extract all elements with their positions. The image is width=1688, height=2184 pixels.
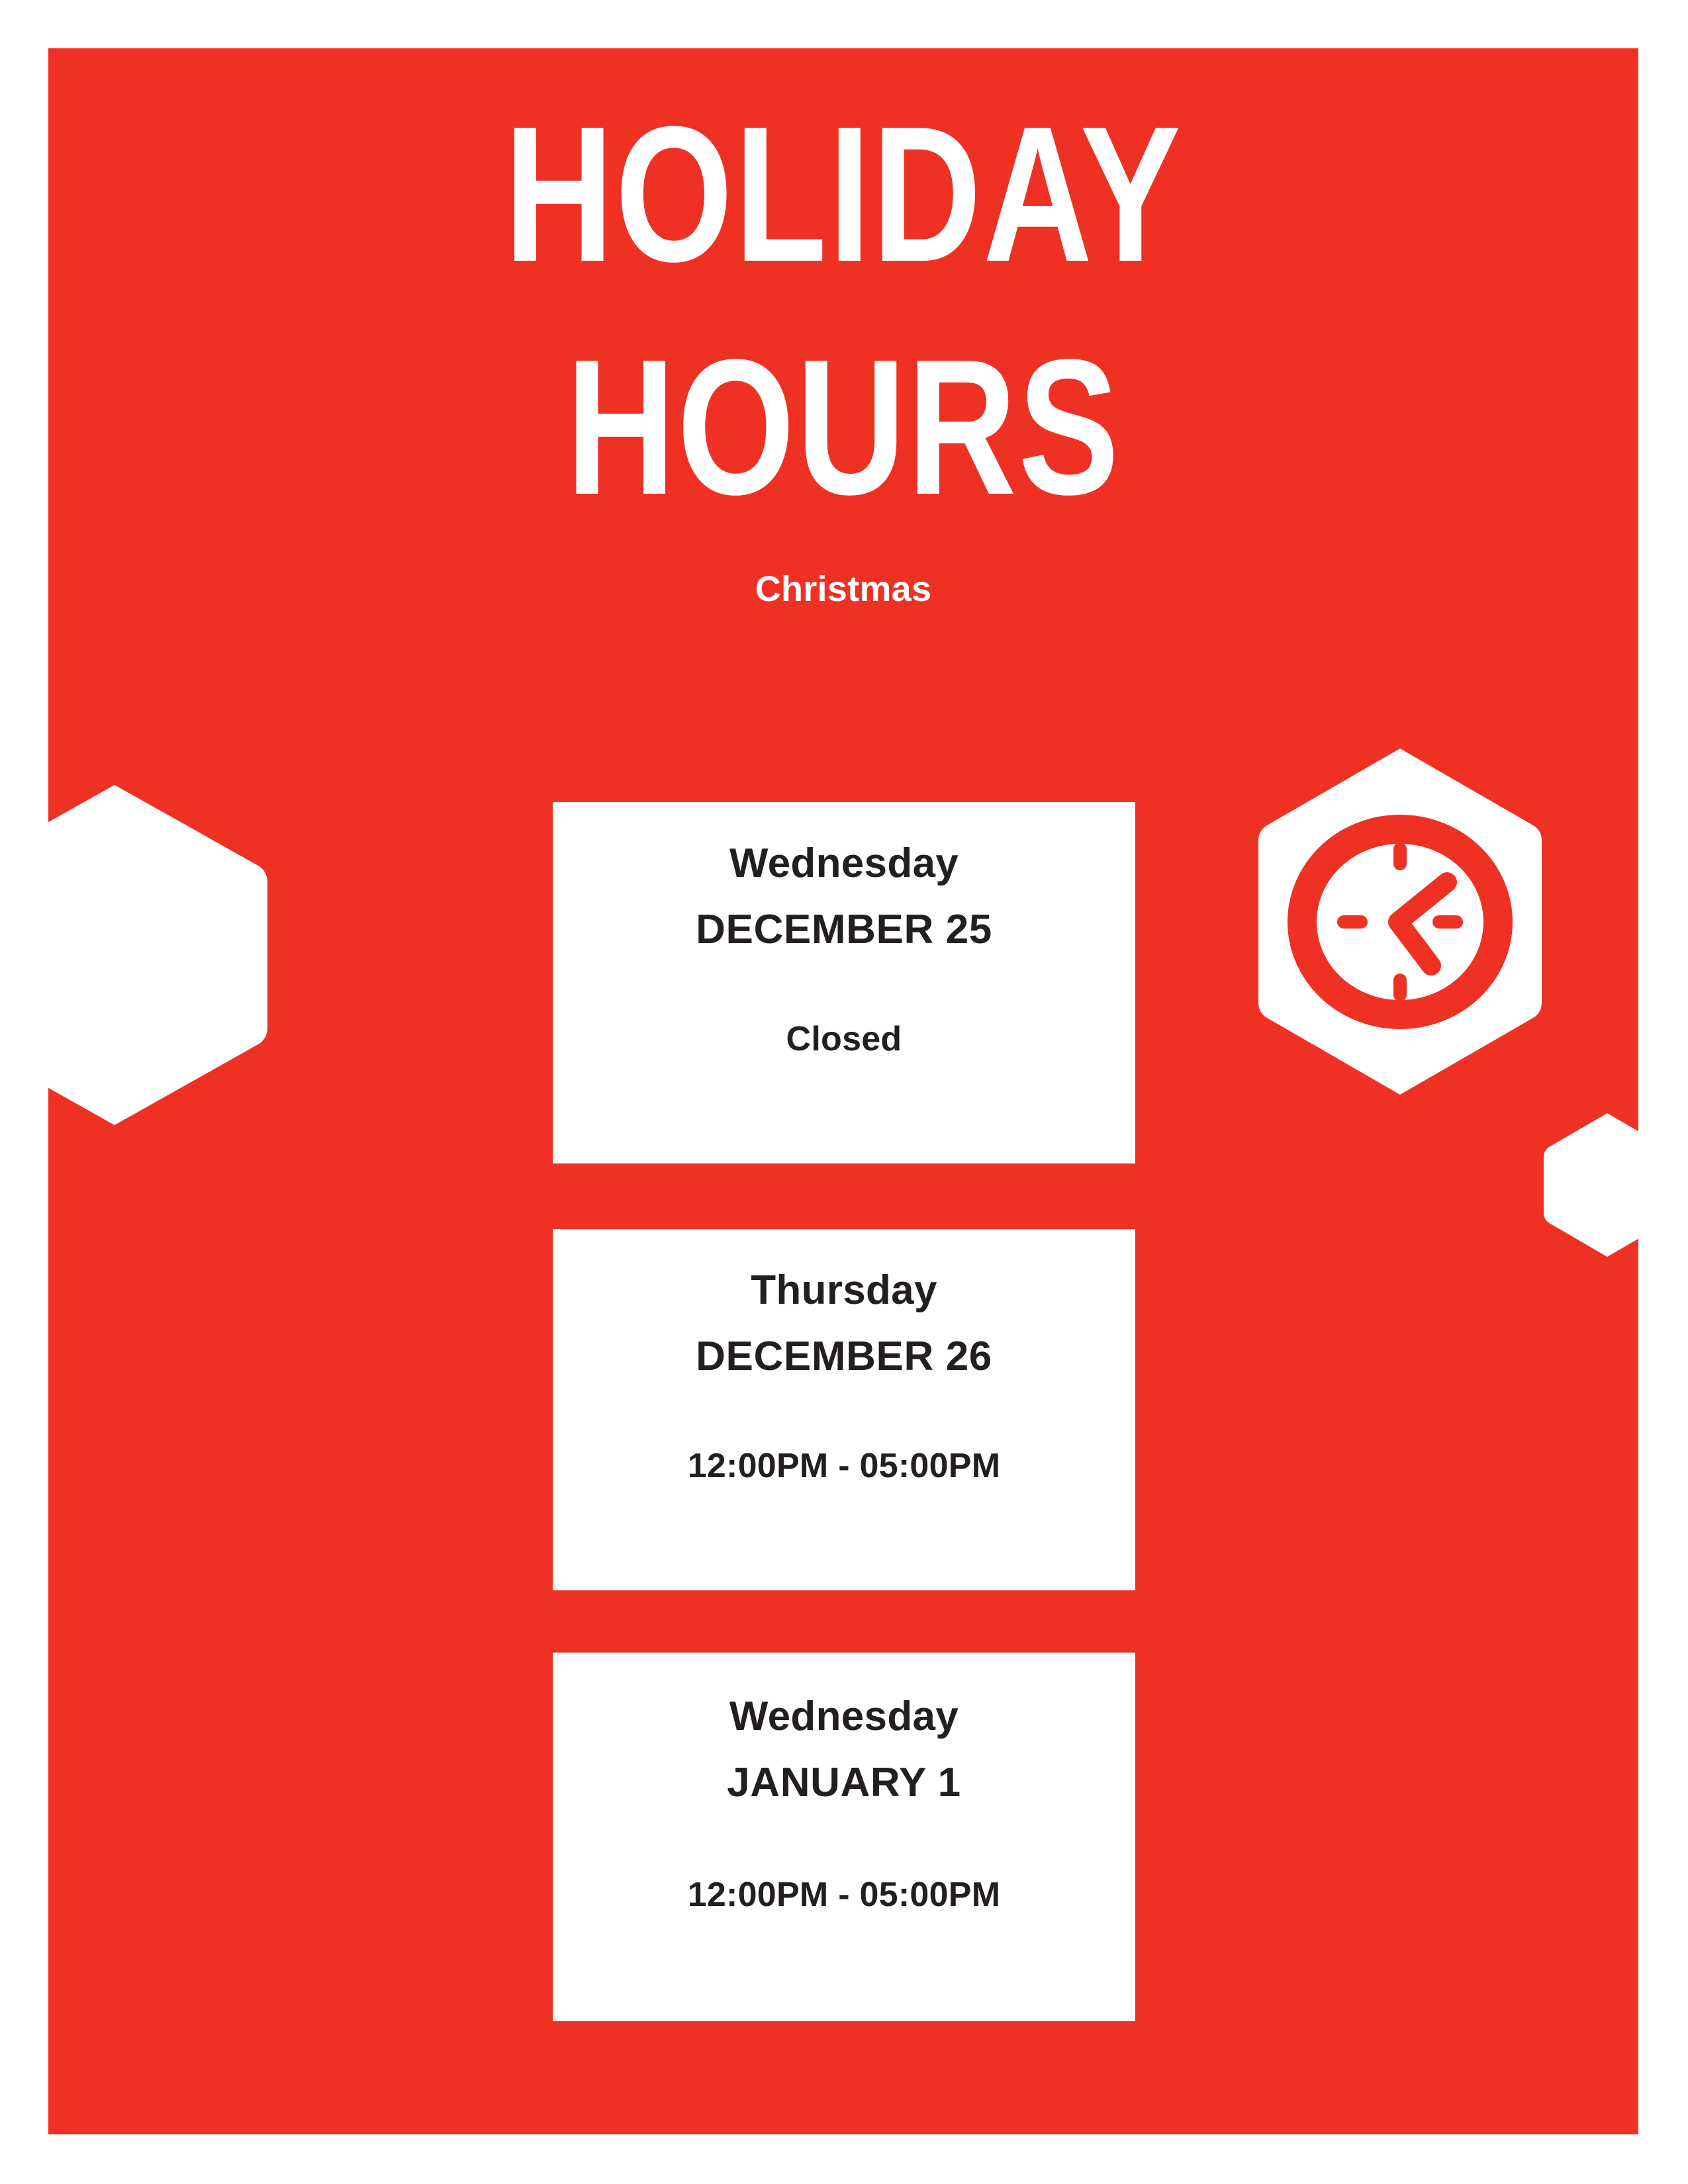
poster-subtitle: Christmas	[48, 571, 1638, 607]
page-title-line-1: HOLIDAY	[207, 105, 1479, 284]
schedule-card-date: JANUARY 1	[727, 1762, 961, 1803]
schedule-card: Wednesday JANUARY 1 12:00PM - 05:00PM	[553, 1653, 1135, 2021]
holiday-hours-poster: HOLIDAY HOURS Christmas Wednesday DECEMB…	[0, 0, 1688, 2184]
schedule-card-hours: 12:00PM - 05:00PM	[688, 1878, 1001, 1912]
schedule-card-date: DECEMBER 26	[696, 1336, 992, 1377]
schedule-card-hours: Closed	[786, 1022, 902, 1056]
schedule-card-day: Wednesday	[729, 1696, 959, 1737]
hexagon-decoration-icon	[1541, 1111, 1638, 1259]
clock-hexagon-icon	[1251, 745, 1549, 1099]
schedule-card-hours: 12:00PM - 05:00PM	[688, 1449, 1001, 1483]
schedule-card: Wednesday DECEMBER 25 Closed	[553, 802, 1135, 1163]
schedule-card-day: Wednesday	[729, 843, 959, 884]
page-title-line-2: HOURS	[207, 338, 1479, 517]
schedule-card-day: Thursday	[751, 1270, 937, 1311]
schedule-card-date: DECEMBER 25	[696, 909, 992, 950]
schedule-card: Thursday DECEMBER 26 12:00PM - 05:00PM	[553, 1229, 1135, 1590]
hexagon-decoration-icon	[48, 780, 270, 1130]
red-background-panel: HOLIDAY HOURS Christmas Wednesday DECEMB…	[48, 48, 1638, 2134]
